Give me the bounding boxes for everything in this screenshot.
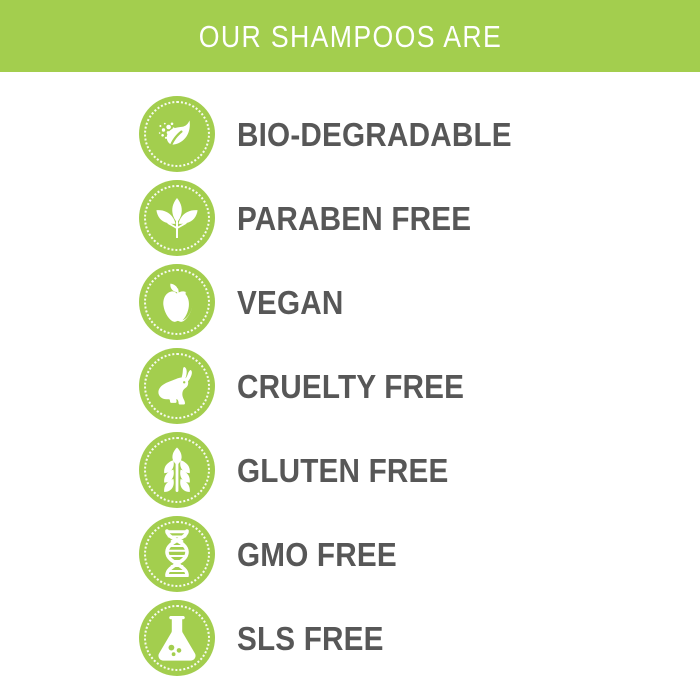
claim-row: BIO-DEGRADABLE (0, 92, 700, 176)
claim-row: VEGAN (0, 260, 700, 344)
wheat-icon (157, 446, 197, 494)
dna-helix-icon (155, 529, 199, 579)
badge-sls-free (139, 600, 215, 676)
claim-label: SLS FREE (237, 622, 384, 655)
claim-row: GLUTEN FREE (0, 428, 700, 512)
claim-row: GMO FREE (0, 512, 700, 596)
badge-bio-degradable (139, 96, 215, 172)
leaf-dissolving-icon (154, 111, 200, 157)
claim-row: SLS FREE (0, 596, 700, 680)
claim-row: CRUELTY FREE (0, 344, 700, 428)
claim-label: GLUTEN FREE (237, 454, 449, 487)
shampoo-claims-poster: OUR SHAMPOOS ARE (0, 0, 700, 700)
claims-list: BIO-DEGRADABLE (0, 92, 700, 680)
badge-gmo-free (139, 516, 215, 592)
badge-gluten-free (139, 432, 215, 508)
claim-label: GMO FREE (237, 538, 397, 571)
apple-icon (155, 279, 199, 325)
badge-cruelty-free (139, 348, 215, 424)
claim-label: BIO-DEGRADABLE (237, 118, 512, 151)
claim-label: VEGAN (237, 286, 344, 319)
badge-paraben-free (139, 180, 215, 256)
flask-icon (156, 614, 198, 662)
leaves-icon (153, 196, 201, 240)
rabbit-icon (153, 364, 201, 408)
claim-label: PARABEN FREE (237, 202, 471, 235)
page-title: OUR SHAMPOOS ARE (198, 21, 501, 52)
claim-label: CRUELTY FREE (237, 370, 464, 403)
claim-row: PARABEN FREE (0, 176, 700, 260)
badge-vegan (139, 264, 215, 340)
header-banner: OUR SHAMPOOS ARE (0, 0, 700, 72)
